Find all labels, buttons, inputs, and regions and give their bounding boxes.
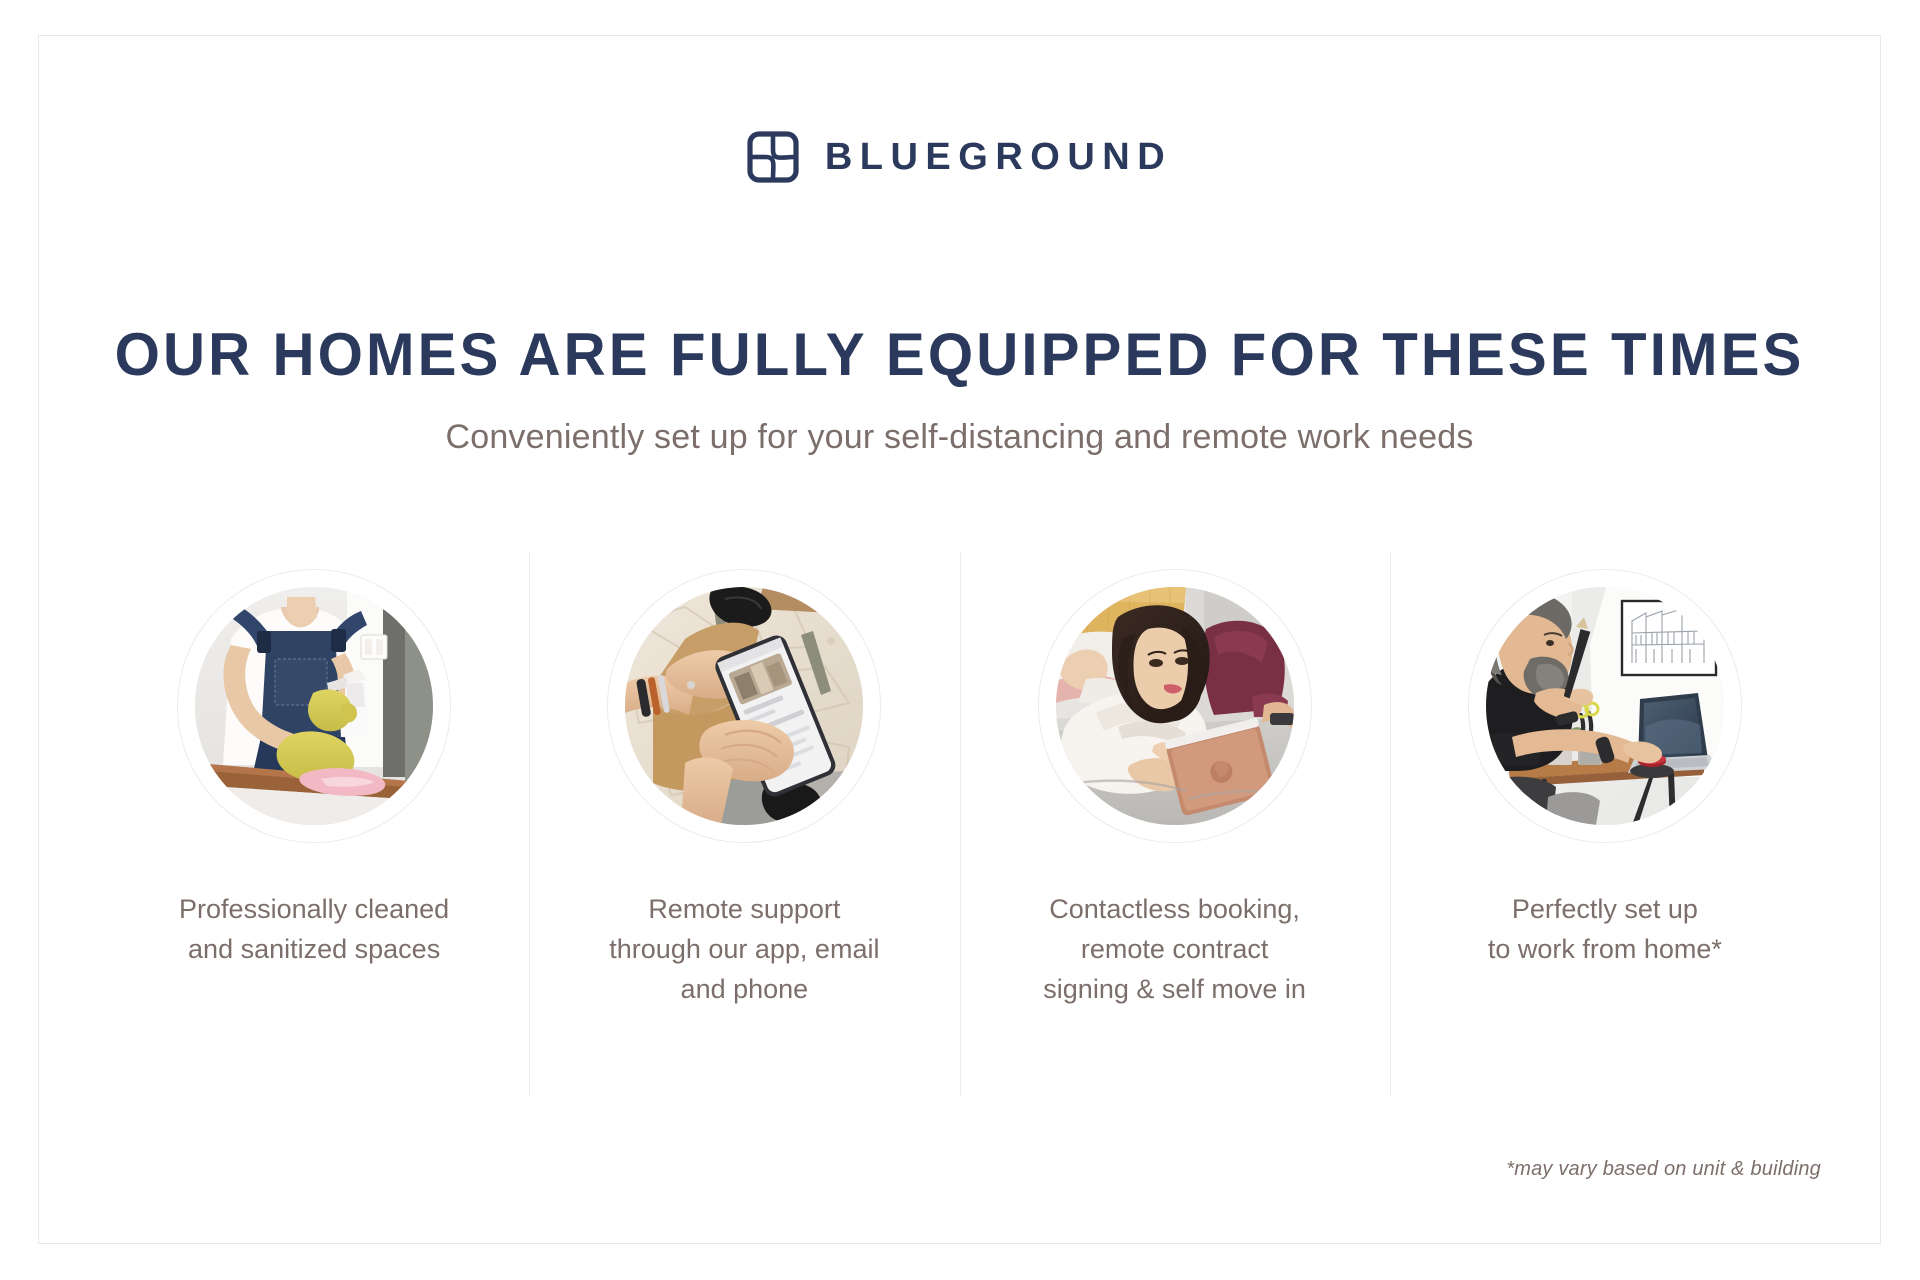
page-subheadline: Conveniently set up for your self-distan… [39, 418, 1880, 457]
feature-caption: Contactless booking, remote contract sig… [1043, 889, 1306, 1009]
caption-line: remote contract [1043, 929, 1306, 969]
photo-professional-cleaning [195, 587, 433, 825]
caption-line: Remote support [609, 889, 879, 929]
photo-ring [607, 569, 881, 843]
caption-line: and sanitized spaces [179, 929, 449, 969]
caption-line: signing & self move in [1043, 969, 1306, 1009]
feature-column-remote-support: Remote support through our app, email an… [529, 551, 959, 1097]
feature-caption: Perfectly set up to work from home* [1488, 889, 1722, 969]
feature-caption: Remote support through our app, email an… [609, 889, 879, 1009]
caption-line: Contactless booking, [1043, 889, 1306, 929]
photo-ring [177, 569, 451, 843]
photo-contactless-booking-tablet [1056, 587, 1294, 825]
caption-line: Professionally cleaned [179, 889, 449, 929]
caption-line: and phone [609, 969, 879, 1009]
feature-caption: Professionally cleaned and sanitized spa… [179, 889, 449, 969]
brand-wordmark: BLUEGROUND [825, 138, 1172, 176]
footnote-disclaimer: *may vary based on unit & building [1506, 1158, 1821, 1181]
photo-ring [1038, 569, 1312, 843]
caption-line: to work from home* [1488, 929, 1722, 969]
page-headline: OUR HOMES ARE FULLY EQUIPPED FOR THESE T… [67, 320, 1853, 389]
feature-columns: Professionally cleaned and sanitized spa… [99, 551, 1820, 1097]
photo-ring [1468, 569, 1742, 843]
photo-work-from-home-desk [1486, 587, 1724, 825]
feature-column-cleaning: Professionally cleaned and sanitized spa… [99, 551, 529, 1097]
photo-remote-support-phone [625, 587, 863, 825]
feature-column-work-from-home: Perfectly set up to work from home* [1390, 551, 1820, 1097]
caption-line: through our app, email [609, 929, 879, 969]
brand-lockup: BLUEGROUND [39, 131, 1880, 183]
blueground-square-icon [747, 131, 799, 183]
page-frame: BLUEGROUND OUR HOMES ARE FULLY EQUIPPED … [38, 35, 1881, 1244]
feature-column-contactless-booking: Contactless booking, remote contract sig… [960, 551, 1390, 1097]
caption-line: Perfectly set up [1488, 889, 1722, 929]
